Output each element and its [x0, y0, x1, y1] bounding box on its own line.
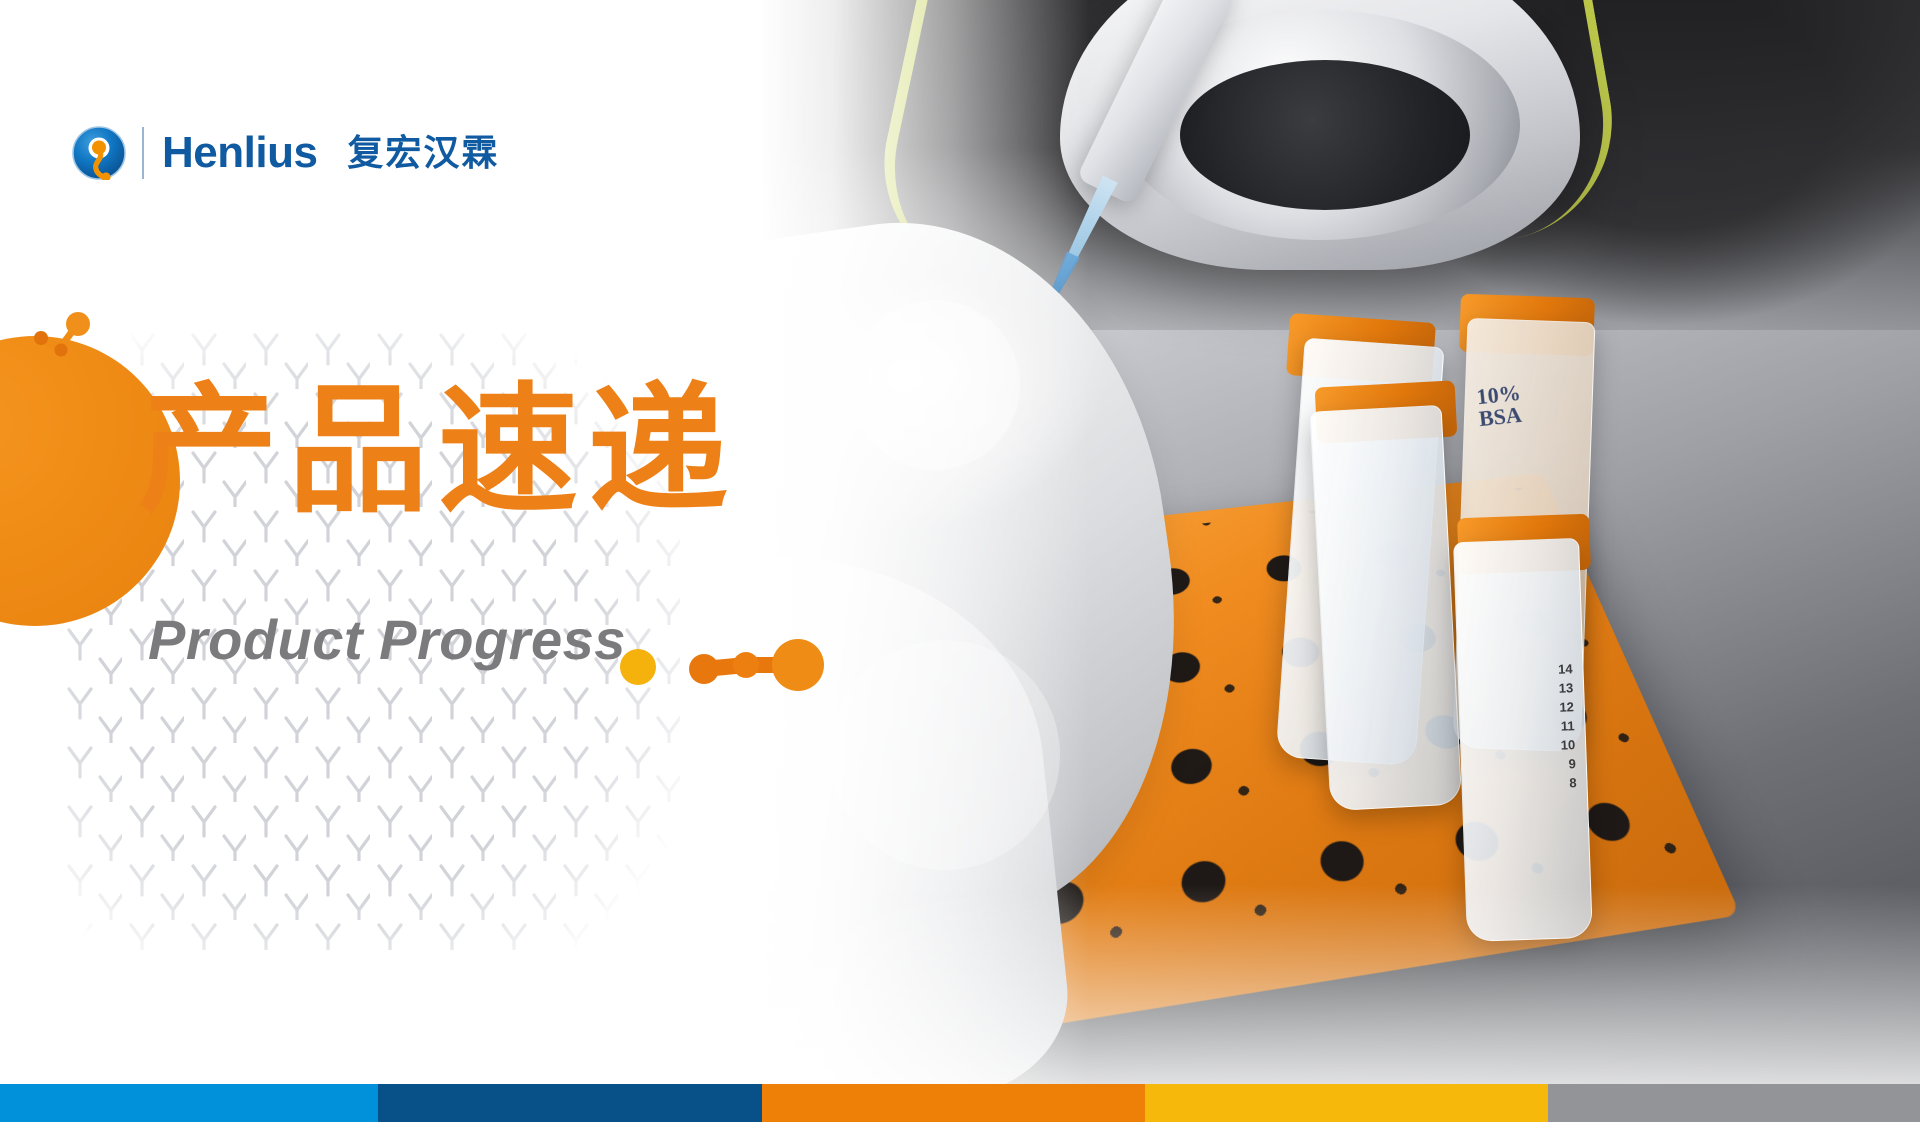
logo-name-en: Henlius: [162, 131, 317, 175]
photo-tube-scale: 14 13 12 11 10 9 8: [1532, 659, 1580, 890]
bar-segment-gold: [1145, 1084, 1548, 1122]
photo-tube-label-bsa: 10% BSA: [1476, 376, 1580, 430]
molecule-icon-small: [32, 310, 112, 370]
scale-tick: 14: [1532, 659, 1573, 679]
scale-tick: 12: [1534, 697, 1575, 717]
logo-name-cn: 复宏汉霖: [347, 135, 499, 171]
henlius-logo-mark: [72, 126, 126, 180]
slide-root: 10% BSA 14 13 12 11 10 9 8: [0, 0, 1920, 1122]
scale-tick: 9: [1536, 754, 1577, 774]
bar-segment-light-blue: [0, 1084, 378, 1122]
hero-photo: 10% BSA 14 13 12 11 10 9 8: [760, 0, 1920, 1094]
photo-test-tube-d: 14 13 12 11 10 9 8: [1453, 538, 1593, 942]
bar-segment-dark-blue: [378, 1084, 762, 1122]
bottom-color-bar: [0, 1084, 1920, 1122]
scale-tick: 13: [1533, 678, 1574, 698]
page-subtitle-en: Product Progress: [148, 612, 626, 668]
scale-tick: 10: [1535, 735, 1576, 755]
page-title-cn: 产品速递: [138, 374, 738, 531]
scale-tick: 8: [1536, 773, 1577, 793]
logo-divider: [142, 127, 144, 179]
bar-segment-gray: [1548, 1084, 1920, 1122]
scale-tick: 11: [1534, 716, 1575, 736]
molecule-icon-large: [620, 635, 840, 701]
photo-bottom-fade: [760, 884, 1920, 1094]
henlius-logo[interactable]: Henlius 复宏汉霖: [72, 126, 499, 180]
bar-segment-orange: [762, 1084, 1145, 1122]
tube-label-line2: BSA: [1478, 402, 1523, 431]
photo-test-tube-c: [1310, 405, 1463, 811]
